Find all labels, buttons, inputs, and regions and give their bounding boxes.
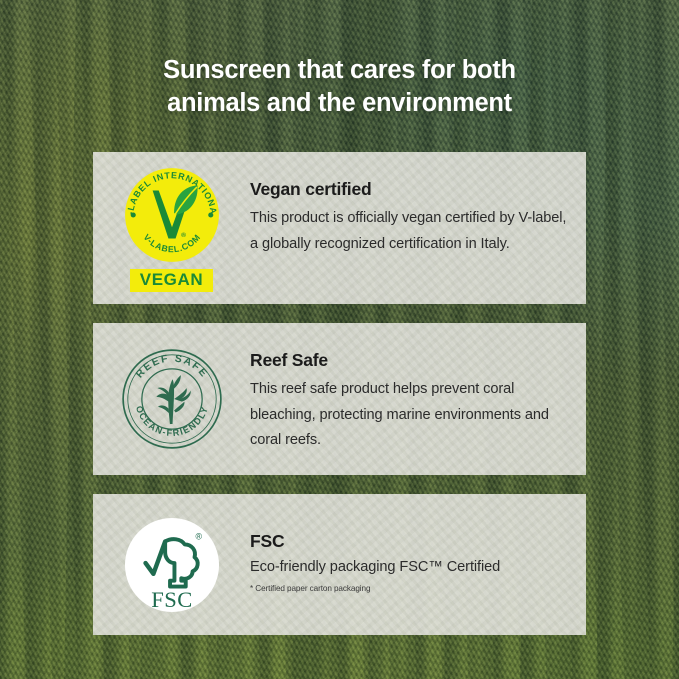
reef-safe-badge-icon: REEF SAFE OCEAN-FRIENDLY [120,347,224,451]
vegan-card-body: This product is officially vegan certifi… [250,206,570,257]
certification-card-list: V-LABEL INTERNATIONAL V-LABEL.COM ® [93,152,586,635]
certification-card-reef-safe: REEF SAFE OCEAN-FRIENDLY [93,323,586,475]
page-title-line-2: animals and the environment [0,87,679,120]
reef-safe-card-title: Reef Safe [250,350,570,370]
v-label-vegan-badge-icon: V-LABEL INTERNATIONAL V-LABEL.COM ® [121,164,223,266]
vegan-banner-label: VEGAN [130,269,213,292]
certification-card-fsc: ® FSC FSC Eco-friendly packaging FSC™ Ce… [93,494,586,635]
vegan-badge-container: V-LABEL INTERNATIONAL V-LABEL.COM ® [93,152,250,304]
vegan-text-block: Vegan certified This product is official… [250,152,586,257]
reef-safe-text-block: Reef Safe This reef safe product helps p… [250,323,586,454]
fsc-wordmark: FSC [151,587,193,612]
fsc-card-title: FSC [250,531,570,551]
page-title-line-1: Sunscreen that cares for both [0,54,679,87]
page-title: Sunscreen that cares for both animals an… [0,54,679,120]
fsc-badge-icon: ® FSC [123,516,221,614]
coral-shape [156,375,190,424]
fsc-card-footnote: * Certified paper carton packaging [250,583,570,594]
registered-mark: ® [195,531,202,541]
registered-mark: ® [181,231,186,239]
certification-card-vegan: V-LABEL INTERNATIONAL V-LABEL.COM ® [93,152,586,304]
reef-safe-card-body: This reef safe product helps prevent cor… [250,377,570,454]
fsc-text-block: FSC Eco-friendly packaging FSC™ Certifie… [250,494,586,594]
vegan-card-title: Vegan certified [250,179,570,199]
reef-safe-badge-container: REEF SAFE OCEAN-FRIENDLY [93,323,250,475]
fsc-badge-container: ® FSC [93,494,250,635]
fsc-card-body: Eco-friendly packaging FSC™ Certified [250,557,570,577]
